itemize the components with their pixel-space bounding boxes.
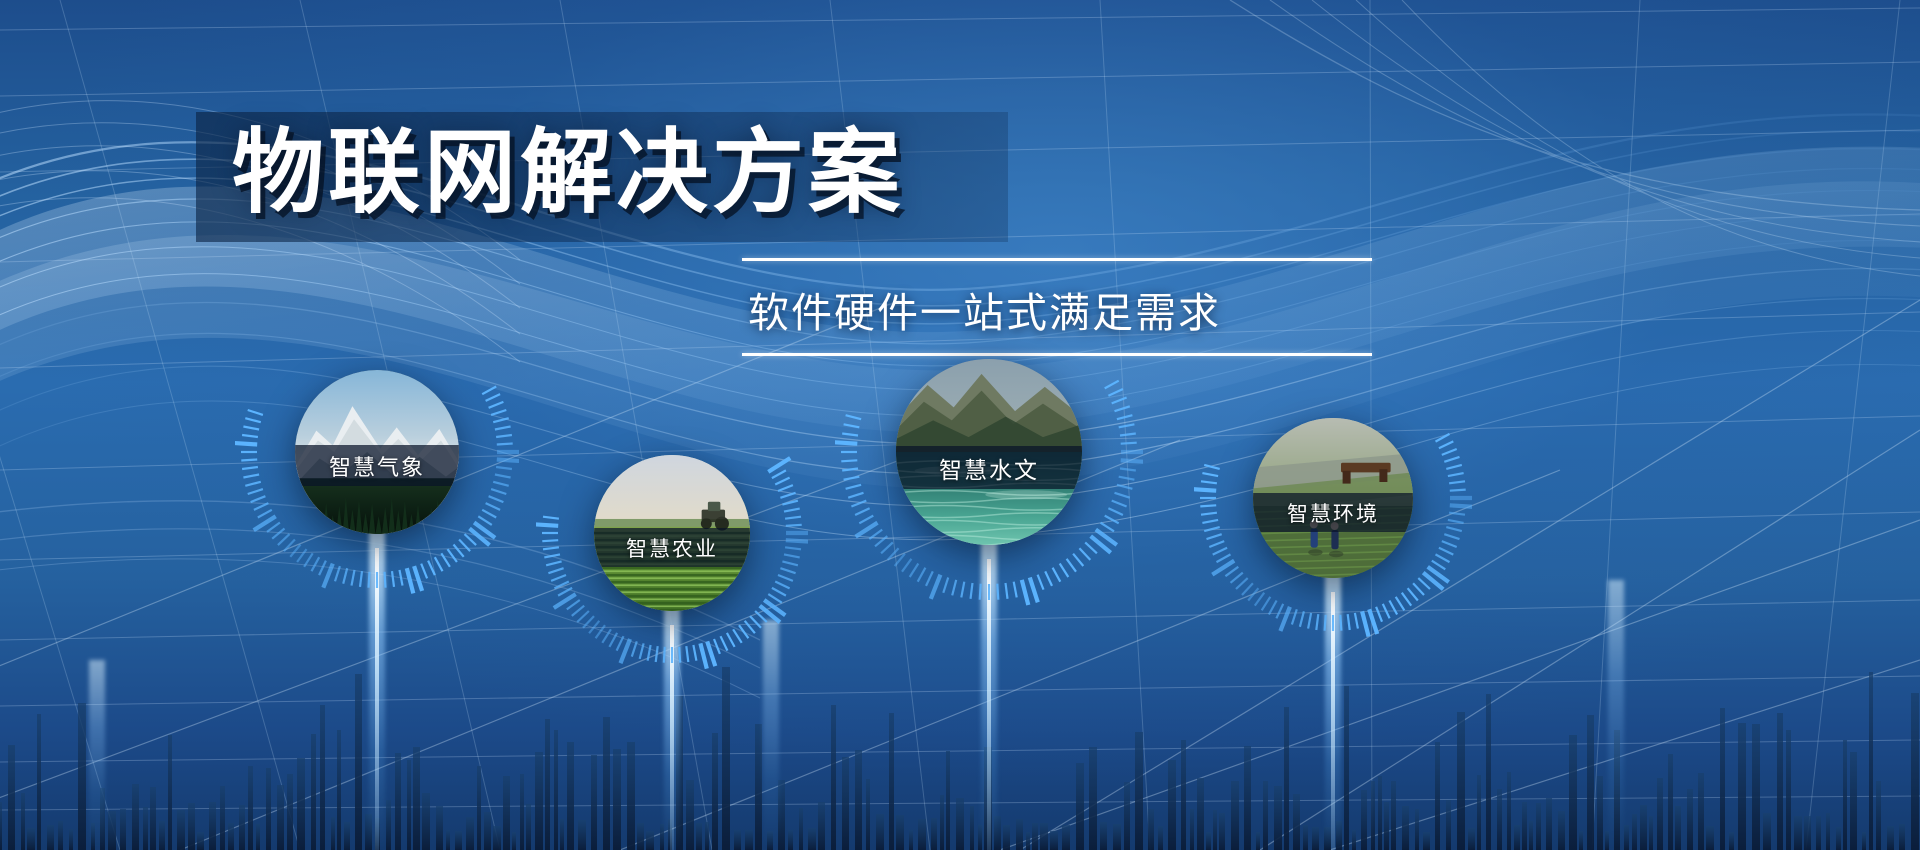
card-label: 智慧农业 (594, 528, 750, 567)
card-photo: 智慧环境 (1253, 418, 1413, 578)
card-label-text: 智慧环境 (1287, 498, 1379, 528)
card-label-text: 智慧水文 (939, 451, 1039, 485)
ambient-light-beam (89, 660, 105, 850)
card-label: 智慧水文 (896, 446, 1082, 489)
card-label-text: 智慧农业 (626, 533, 718, 563)
skyline-bars (0, 620, 1920, 850)
card-photo: 智慧水文 (896, 359, 1082, 545)
hero-banner: 物联网解决方案 软件硬件一站式满足需求 智慧气象 (0, 0, 1920, 850)
card-label: 智慧环境 (1253, 493, 1413, 532)
card-photo: 智慧农业 (594, 455, 750, 611)
card-label-text: 智慧气象 (329, 450, 425, 482)
card-photo: 智慧气象 (295, 370, 459, 534)
card-label: 智慧气象 (295, 445, 459, 486)
page-title: 物联网解决方案 (232, 122, 1012, 225)
ambient-light-beam (1608, 580, 1624, 850)
